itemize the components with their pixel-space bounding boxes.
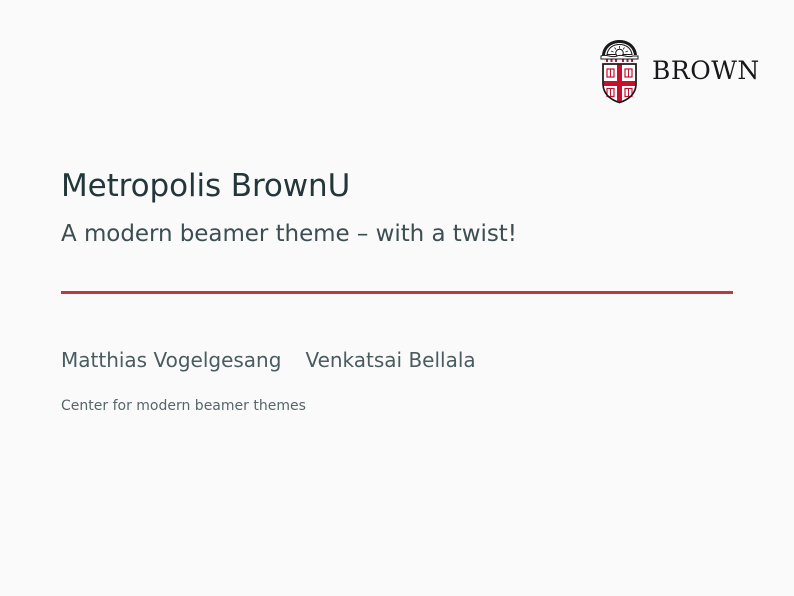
crest-ornament-icon [601, 40, 638, 62]
crest-shield-icon [603, 64, 636, 103]
slide-subtitle: A modern beamer theme – with a twist! [61, 221, 741, 249]
institute-line: Center for modern beamer themes [61, 398, 741, 415]
author-name-2: Venkatsai Bellala [305, 348, 475, 372]
title-group: Metropolis BrownU A modern beamer theme … [61, 168, 741, 248]
author-group: Matthias VogelgesangVenkatsai Bellala Ce… [61, 348, 741, 415]
title-separator-rule [61, 291, 733, 294]
title-slide: BROWN Metropolis BrownU A modern beamer … [0, 0, 794, 596]
brown-university-crest-icon [598, 38, 641, 104]
brown-university-logo: BROWN [598, 38, 760, 104]
author-line: Matthias VogelgesangVenkatsai Bellala [61, 348, 741, 372]
slide-title: Metropolis BrownU [61, 168, 741, 205]
brown-wordmark: BROWN [652, 58, 760, 85]
author-name-1: Matthias Vogelgesang [61, 348, 281, 372]
